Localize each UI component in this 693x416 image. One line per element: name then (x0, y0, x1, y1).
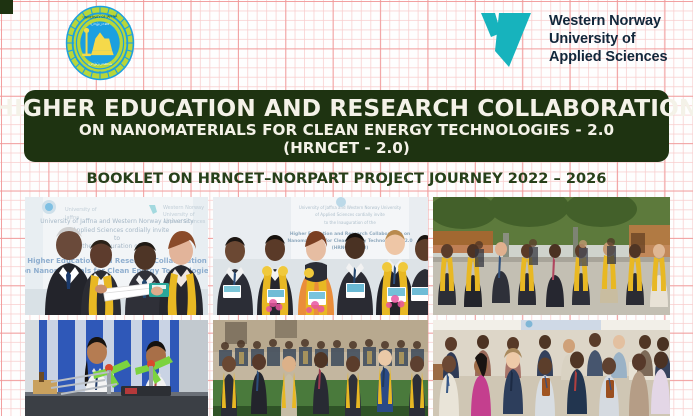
photo-collage: University of Jaffna Western Norway Univ… (25, 197, 670, 416)
svg-text:University of Jaffna and Weste: University of Jaffna and Western Norway … (40, 218, 194, 225)
svg-text:of Applied Sciences cordially: of Applied Sciences cordially invite (65, 227, 170, 234)
university-of-jaffna-seal-icon: யாழ்பாண யாழ்ப்பாணம் UNIVERSITY OF JAFFNA (62, 4, 138, 82)
header: யாழ்பாண யாழ்ப்பாணம் UNIVERSITY OF JAFFNA… (0, 0, 693, 88)
title-line-2: ON NANOMATERIALS FOR CLEAN ENERGY TECHNO… (79, 122, 614, 140)
svg-text:Western Norway: Western Norway (163, 205, 204, 211)
title-line-1: HIGHER EDUCATION AND RESEARCH COLLABORAT… (0, 96, 693, 121)
photo-handover-ceremony: University of Jaffna Western Norway Univ… (25, 197, 208, 315)
photo-student-project-demo (25, 320, 208, 416)
photo-booklet-launch-group: University of Jaffna and Western Norway … (213, 197, 428, 315)
svg-text:to the Inauguration of the: to the Inauguration of the (324, 220, 376, 225)
svg-text:யாழ்ப்பாணம்: யாழ்ப்பாணம் (88, 61, 112, 66)
booklet-subtitle: BOOKLET ON HRNCET–NORPART PROJECT JOURNE… (0, 170, 693, 187)
svg-text:University of Jaffna and Weste: University of Jaffna and Western Norway … (299, 205, 402, 210)
title-banner: HIGHER EDUCATION AND RESEARCH COLLABORAT… (24, 90, 669, 162)
wnu-logo-text: Western Norway University of Applied Sci… (549, 13, 667, 67)
svg-text:University of: University of (65, 207, 97, 213)
photo-auditorium-audience (213, 320, 428, 416)
wnu-text-line3: Applied Sciences (549, 49, 667, 67)
wnu-text-line1: Western Norway (549, 13, 667, 31)
svg-text:of Applied Sciences cordially: of Applied Sciences cordially invite (315, 212, 385, 217)
western-norway-university-logo: Western Norway University of Applied Sci… (479, 11, 667, 69)
wnu-v-mark-icon (479, 11, 539, 69)
booklet-cover-page: யாழ்பாண யாழ்ப்பாணம் UNIVERSITY OF JAFFNA… (0, 0, 693, 416)
wnu-text-line2: University of (549, 31, 667, 49)
svg-text:to: to (114, 235, 120, 242)
photo-academic-procession (433, 197, 670, 315)
photo-delegates-group-photo (433, 320, 670, 416)
title-line-3: (HRNCET - 2.0) (283, 140, 410, 158)
svg-text:யாழ்பாண: யாழ்பாண (90, 21, 110, 26)
